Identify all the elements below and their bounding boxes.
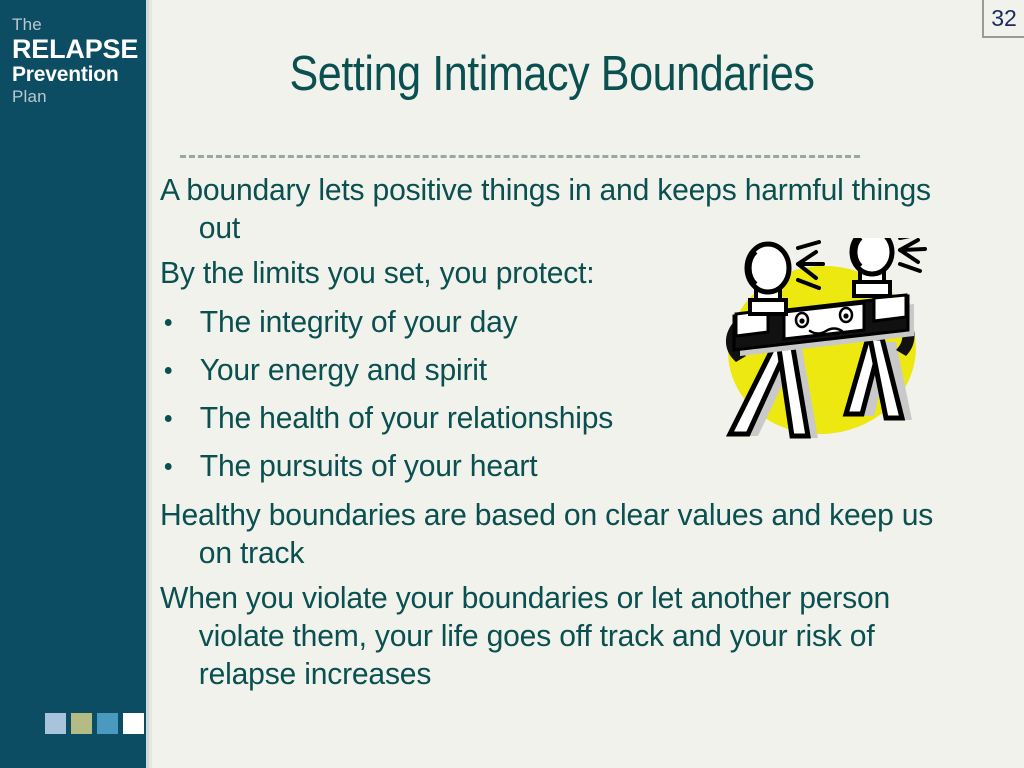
warning-light-right (852, 238, 925, 296)
logo-line-prevention: Prevention (12, 64, 142, 85)
page-number: 32 (991, 5, 1017, 32)
paragraph-4: When you violate your boundaries or let … (160, 579, 965, 693)
swatch-white (123, 713, 144, 734)
sidebar-color-swatches (45, 713, 144, 734)
road-barricade-illustration (706, 238, 938, 450)
board-stripe-right (874, 295, 906, 321)
bullet-dot-icon (165, 463, 172, 470)
brand-logo: The RELAPSE Prevention Plan (12, 16, 142, 105)
list-item-label: The pursuits of your heart (200, 448, 538, 483)
swatch-blue (97, 713, 118, 734)
page-number-badge: 32 (982, 0, 1024, 38)
list-item-label: The health of your relationships (200, 400, 613, 435)
list-item-label: The integrity of your day (200, 304, 518, 339)
bullet-dot-icon (165, 367, 172, 374)
list-item-label: Your energy and spirit (200, 352, 487, 387)
paragraph-1: A boundary lets positive things in and k… (160, 171, 965, 247)
swatch-light-blue (45, 713, 66, 734)
sidebar-edge-highlight-2 (149, 0, 152, 768)
sidebar (0, 0, 146, 768)
bullet-dot-icon (165, 319, 172, 326)
logo-line-relapse: RELAPSE (12, 36, 142, 63)
logo-line-plan: Plan (12, 88, 142, 105)
title-divider (180, 155, 860, 158)
paragraph-3: Healthy boundaries are based on clear va… (160, 496, 965, 572)
logo-line-the: The (12, 16, 142, 33)
page-title: Setting Intimacy Boundaries (200, 46, 904, 102)
light-flash-rays-right (900, 238, 925, 271)
bullet-dot-icon (165, 415, 172, 422)
swatch-khaki (71, 713, 92, 734)
slide: The RELAPSE Prevention Plan 32 Setting I… (0, 0, 1024, 768)
